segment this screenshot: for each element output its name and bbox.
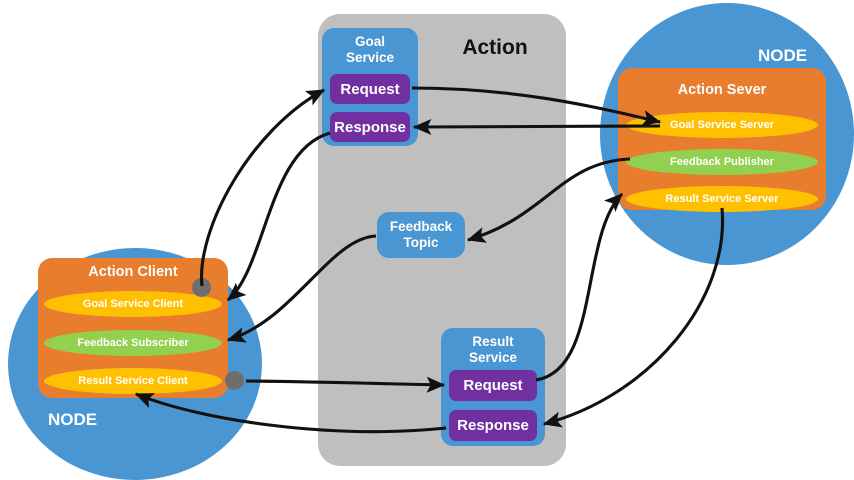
arrow-response-to-goal-client — [228, 133, 330, 300]
result-client-connector-dot — [225, 371, 244, 390]
result-service-response-pill[interactable]: Response — [449, 410, 537, 441]
goal-service-title-line2: Service — [322, 50, 418, 66]
result-service-title-line1: Result — [441, 334, 545, 350]
feedback-topic-title-line2: Topic — [377, 235, 465, 251]
result-service-server-ellipse[interactable]: Result Service Server — [626, 186, 818, 212]
result-service-title-line2: Service — [441, 350, 545, 366]
goal-client-connector-dot — [192, 278, 211, 297]
goal-service-request-pill[interactable]: Request — [330, 74, 410, 104]
feedback-topic-title: Feedback Topic — [377, 212, 465, 251]
action-panel-title: Action — [430, 36, 560, 60]
result-service-title: Result Service — [441, 328, 545, 366]
arrow-client-goal-to-request — [202, 90, 324, 286]
feedback-subscriber-ellipse[interactable]: Feedback Subscriber — [44, 330, 222, 356]
diagram-canvas: Action Action Client Action Sever Goal S… — [0, 0, 854, 480]
result-service-client-ellipse[interactable]: Result Service Client — [44, 368, 222, 394]
action-server-title: Action Sever — [618, 82, 826, 98]
goal-service-response-pill[interactable]: Response — [330, 112, 410, 142]
server-node-label: NODE — [758, 46, 807, 66]
result-service-request-pill[interactable]: Request — [449, 370, 537, 401]
client-node-label: NODE — [48, 410, 97, 430]
feedback-topic-box[interactable]: Feedback Topic — [377, 212, 465, 258]
feedback-publisher-ellipse[interactable]: Feedback Publisher — [626, 149, 818, 175]
feedback-topic-title-line1: Feedback — [377, 219, 465, 235]
goal-service-title: Goal Service — [322, 28, 418, 66]
goal-service-server-ellipse[interactable]: Goal Service Server — [626, 112, 818, 138]
goal-service-title-line1: Goal — [322, 34, 418, 50]
